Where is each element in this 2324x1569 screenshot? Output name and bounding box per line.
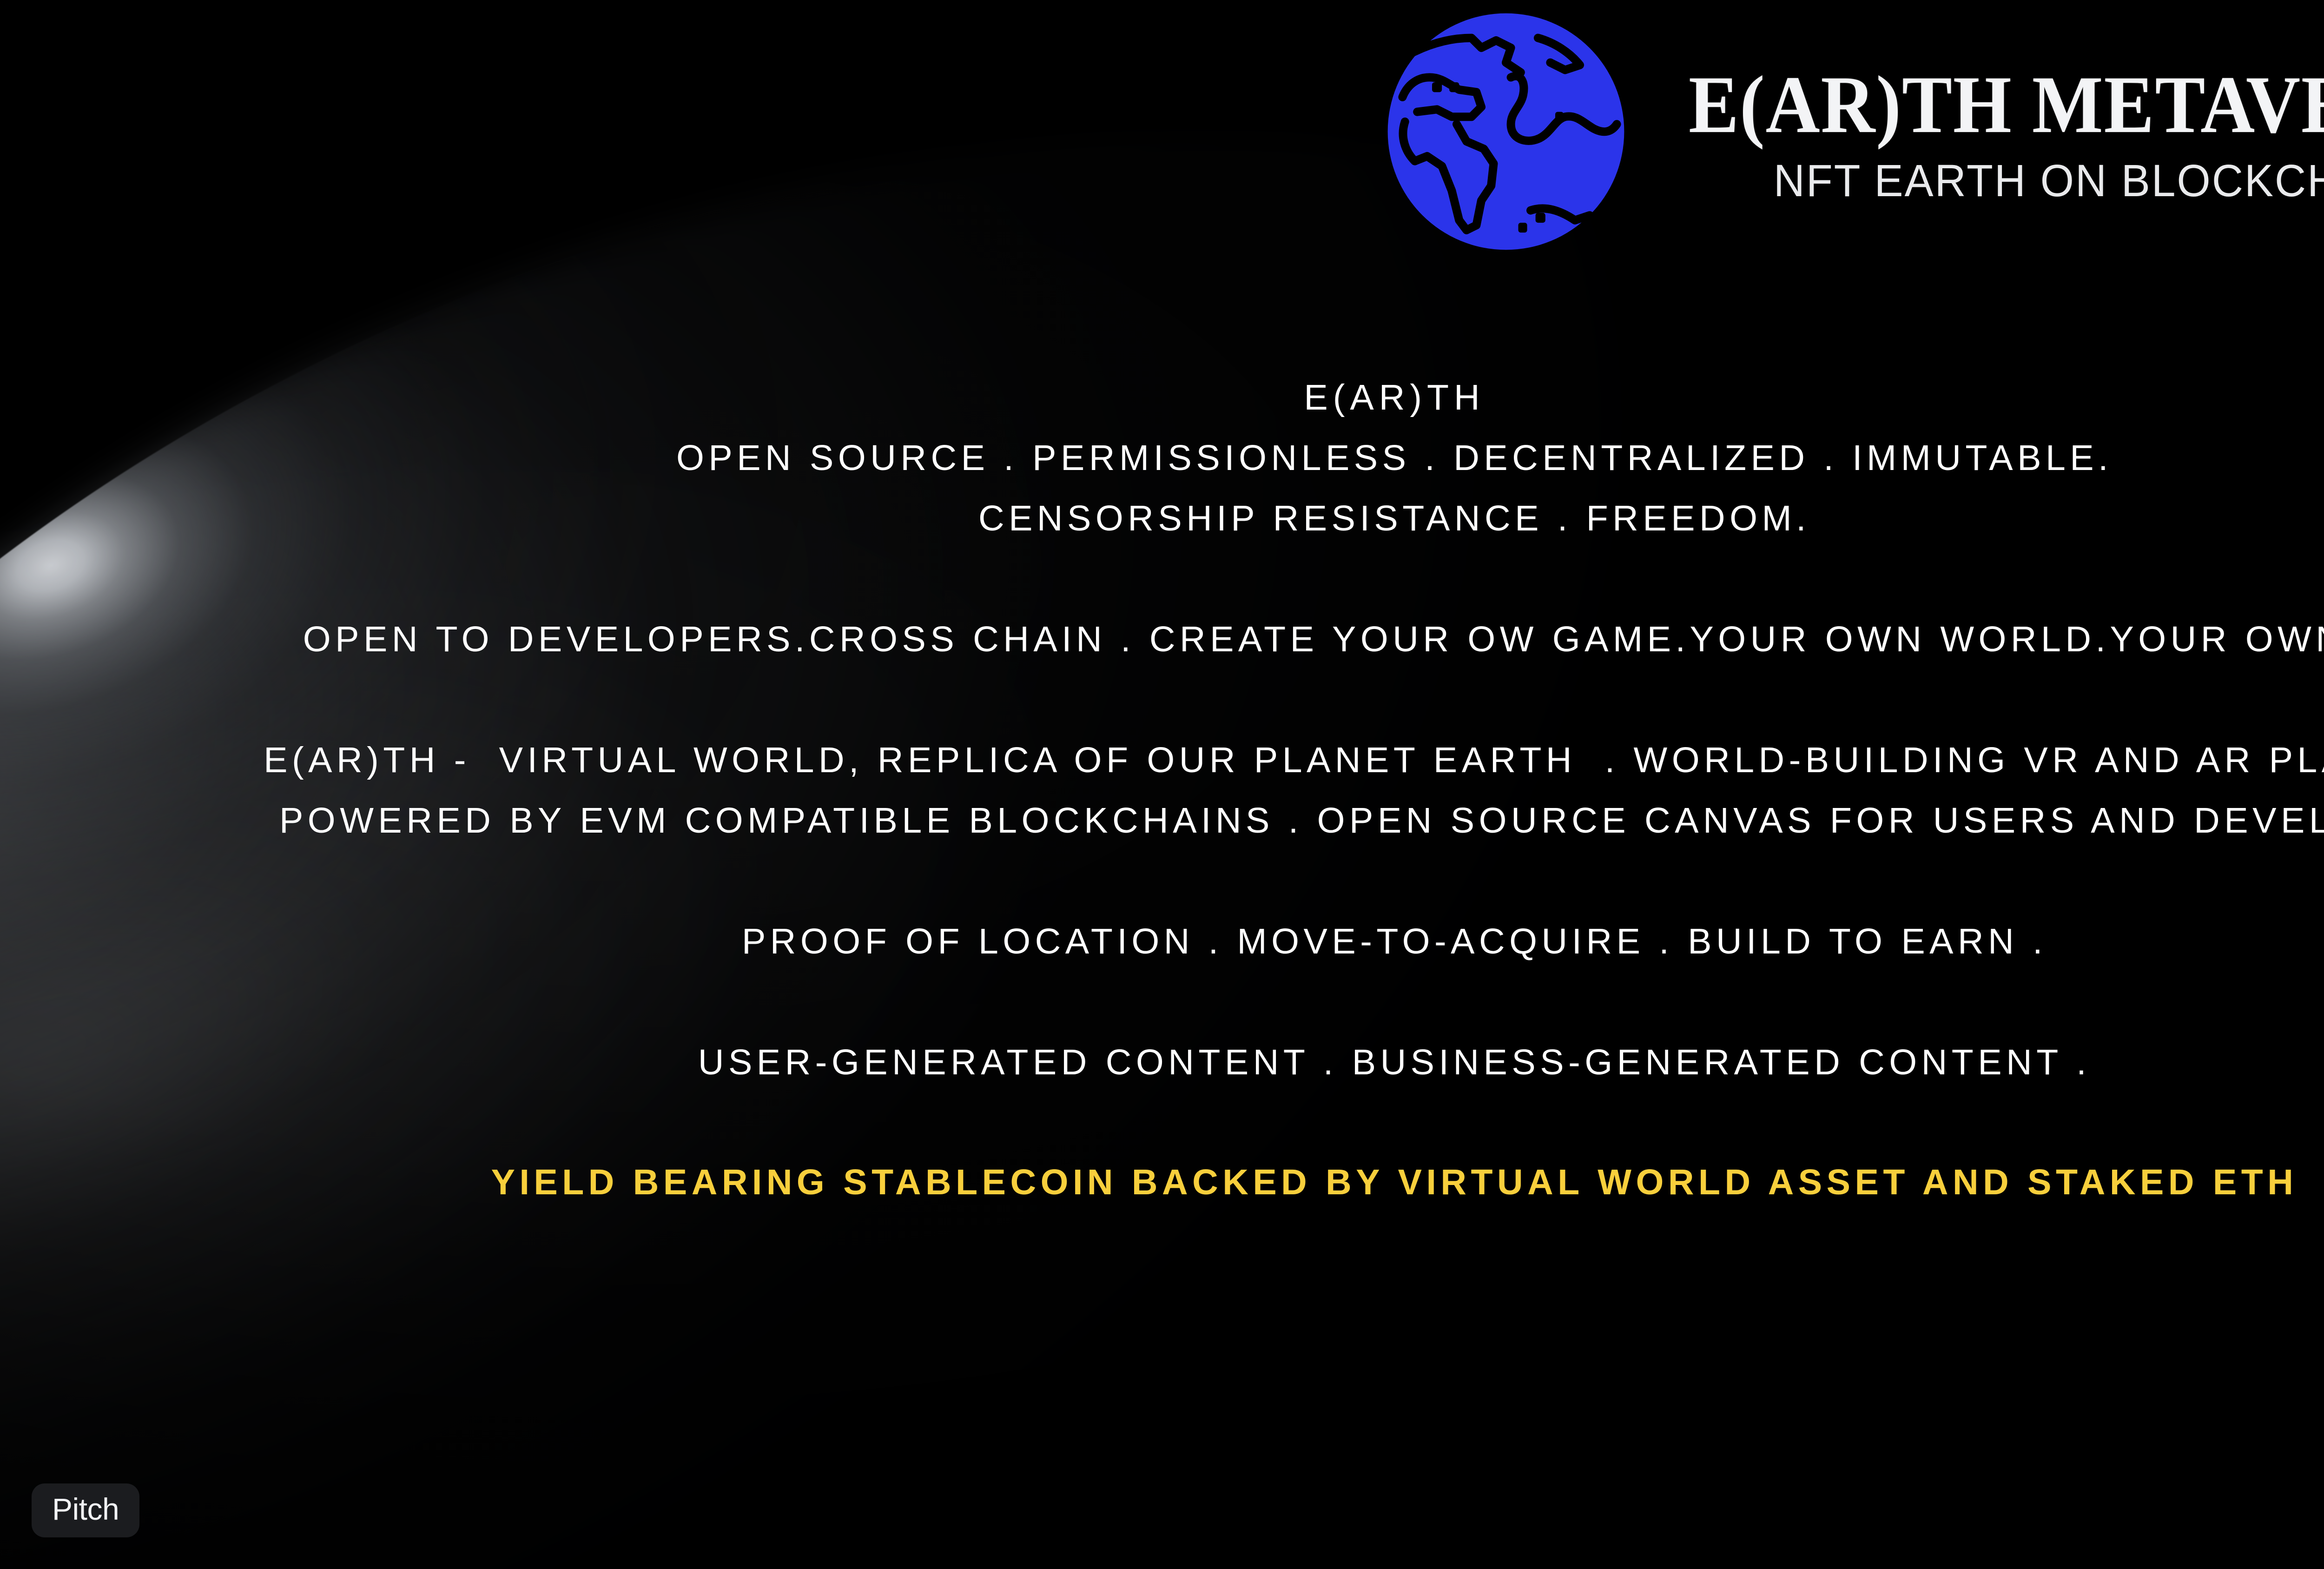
brand-subtitle: NFT EARTH ON BLOCKCHAIN <box>1774 158 2324 203</box>
brand-logo[interactable]: E(AR)TH METAVERSE NFT EARTH ON BLOCKCHAI… <box>1383 8 2324 255</box>
slide-canvas: E(AR)TH METAVERSE NFT EARTH ON BLOCKCHAI… <box>0 0 2324 1569</box>
slide-body-copy: E(AR)TH OPEN SOURCE . PERMISSIONLESS . D… <box>0 367 2324 1212</box>
brand-title: E(AR)TH METAVERSE <box>1689 64 2324 146</box>
body-paragraph-developers: OPEN TO DEVELOPERS.CROSS CHAIN . CREATE … <box>0 609 2324 669</box>
paragraph-gap <box>0 1092 2324 1152</box>
body-heading: E(AR)TH <box>0 367 2324 428</box>
pitch-badge[interactable]: Pitch <box>32 1483 139 1537</box>
body-paragraph-mechanics: PROOF OF LOCATION . MOVE-TO-ACQUIRE . BU… <box>0 911 2324 972</box>
body-paragraph-principles: OPEN SOURCE . PERMISSIONLESS . DECENTRAL… <box>0 428 2324 549</box>
globe-icon <box>1383 8 1629 255</box>
body-paragraph-stablecoin: YIELD BEARING STABLECOIN BACKED BY VIRTU… <box>0 1152 2324 1212</box>
paragraph-gap <box>0 851 2324 911</box>
paragraph-gap <box>0 549 2324 609</box>
body-paragraph-definition: E(AR)TH - VIRTUAL WORLD, REPLICA OF OUR … <box>0 730 2324 851</box>
brand-logo-text: E(AR)TH METAVERSE NFT EARTH ON BLOCKCHAI… <box>1653 60 2324 203</box>
paragraph-gap <box>0 669 2324 730</box>
body-paragraph-content-types: USER-GENERATED CONTENT . BUSINESS-GENERA… <box>0 1032 2324 1092</box>
paragraph-gap <box>0 972 2324 1032</box>
